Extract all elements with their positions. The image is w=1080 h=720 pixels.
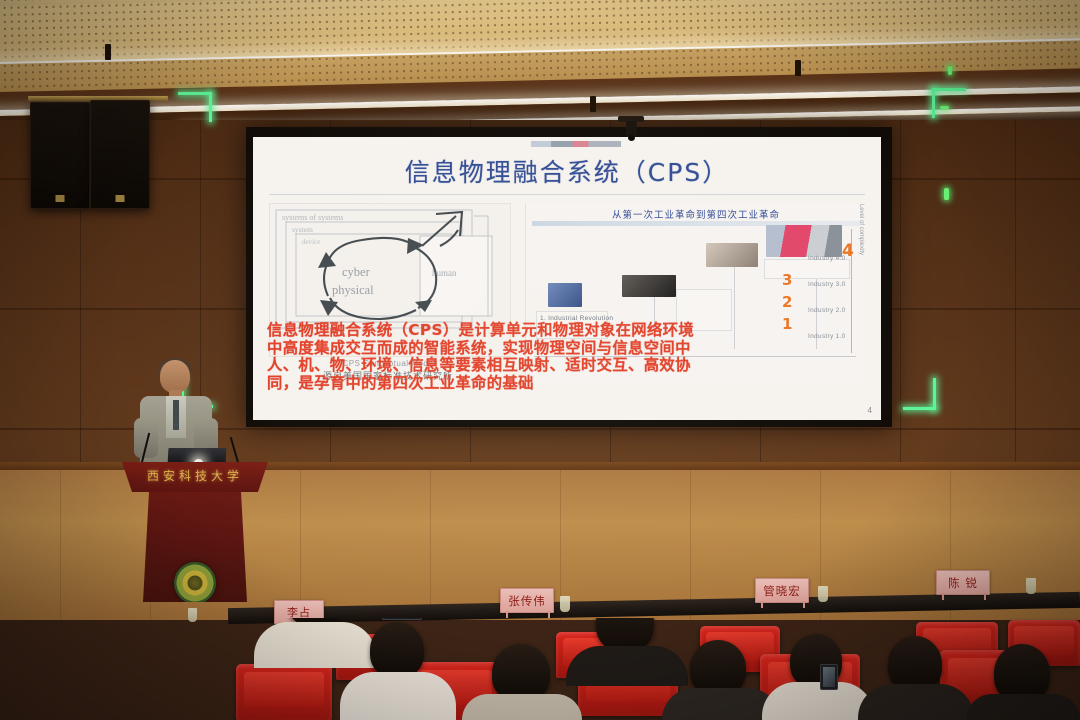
ceiling (0, 0, 1080, 132)
loudspeaker-left-b (90, 100, 150, 209)
auditorium-photo: 信息物理融合系统（CPS） systems of systems system … (0, 0, 1080, 720)
industrial-revolutions-title: 从第一次工业革命到第四次工业革命 (526, 207, 866, 221)
body-line-3: 人、机、物、环境、信息等要素相互映射、适时交互、高效协 (267, 357, 867, 375)
water-cup (818, 586, 828, 602)
label-systems-of-systems: systems of systems (282, 213, 343, 222)
stage-number-3: 3 (782, 271, 792, 289)
slide-title: 信息物理融合系统（CPS） (253, 153, 881, 189)
smartphone (820, 664, 838, 690)
ceiling-clamp (795, 60, 801, 76)
slide-decoration-bar (531, 141, 621, 147)
seat (236, 664, 332, 720)
ceiling-clamp (105, 44, 111, 60)
complexity-axis-label: Level of complexity (858, 204, 864, 255)
audience-shoulders (966, 694, 1080, 720)
audience-shoulders (340, 672, 456, 720)
stage-label-4: Industry 4.0 (808, 255, 846, 262)
name-placard-4: 陈 锐 (936, 570, 990, 595)
era-photo-cyber-physical (766, 225, 842, 257)
label-system: system (292, 225, 313, 234)
slide-body-text: 信息物理融合系统（CPS）是计算单元和物理对象在网络环境 中高度集成交互而成的智… (267, 322, 867, 392)
lectern-body (143, 492, 247, 602)
projection-screen: 信息物理融合系统（CPS） systems of systems system … (246, 127, 892, 427)
speaker-logo-icon (56, 195, 65, 202)
era-photo-steam (548, 283, 582, 307)
era-photo-automation (706, 243, 758, 267)
audience-head (370, 622, 424, 678)
label-cyber: cyber (342, 265, 371, 279)
slide-title-rule (269, 194, 865, 195)
stage-number-2: 2 (782, 293, 792, 311)
speaker-logo-icon (116, 195, 125, 202)
ceiling-clamp (590, 96, 596, 112)
stage-label-2: Industry 2.0 (808, 307, 846, 314)
smartphone (382, 618, 422, 620)
wall-green-led (944, 188, 949, 200)
placard-legs (761, 601, 805, 608)
stage-label-3: Industry 3.0 (808, 281, 846, 288)
presentation-slide: 信息物理融合系统（CPS） systems of systems system … (253, 137, 881, 420)
presenter-head (160, 360, 190, 393)
audience-shoulders (462, 694, 582, 720)
era-photo-assembly-line (622, 275, 676, 297)
name-placard-3: 管晓宏 (755, 578, 809, 603)
placard-legs (942, 593, 986, 600)
slide-page-number: 4 (868, 406, 872, 415)
lectern: 西安科技大学 (122, 462, 268, 602)
camera-lens (628, 135, 635, 141)
name-placard-2: 张传伟 (500, 588, 554, 613)
body-line-2: 中高度集成交互而成的智能系统，实现物理空间与信息空间中 (267, 340, 867, 358)
audience-seating (0, 618, 1080, 720)
body-line-1: 信息物理融合系统（CPS）是计算单元和物理对象在网络环境 (267, 322, 867, 340)
ceiling-green-led (940, 106, 949, 109)
body-line-4: 同，是孕育中的第四次工业革命的基础 (267, 375, 867, 393)
presenter-tie (173, 400, 179, 430)
era-card-4 (764, 259, 850, 279)
label-physical: physical (332, 283, 374, 297)
water-cup (1026, 578, 1036, 594)
audience-shoulders (858, 684, 974, 720)
ceiling-green-led (948, 66, 952, 75)
audience-shoulders (254, 622, 376, 668)
audience-shoulders (566, 646, 688, 686)
placard-legs (506, 611, 550, 618)
water-cup (560, 596, 570, 612)
loudspeaker-left-a (30, 102, 90, 209)
university-seal-icon (174, 562, 216, 604)
lectern-institution-text: 西安科技大学 (122, 467, 268, 484)
label-device: device (302, 238, 320, 246)
